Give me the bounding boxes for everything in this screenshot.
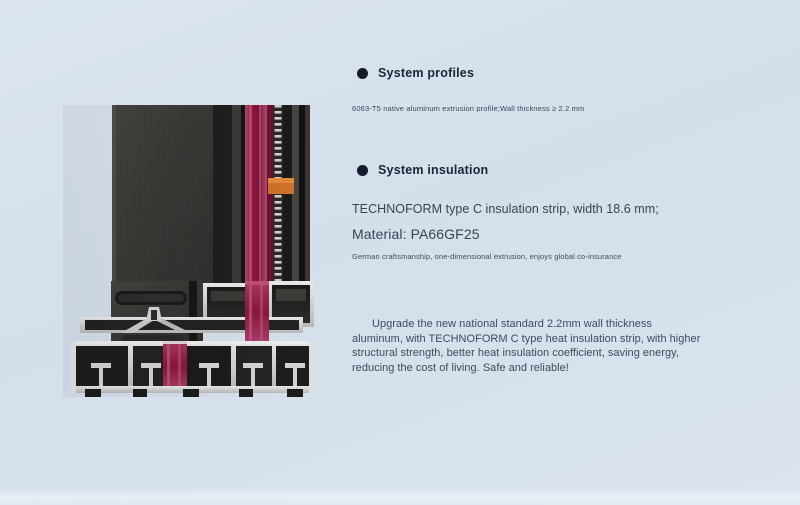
section-heading-system-insulation: System insulation [378,163,488,177]
insulation-origin-note: German craftsmanship, one-dimensional ex… [352,252,752,261]
section-system-profiles: System profiles [352,66,752,80]
insulation-material-spec: Material: PA66GF25 [352,226,752,242]
summary-paragraph: Upgrade the new national standard 2.2mm … [352,317,704,375]
system-profiles-note: 6063-T5 native aluminum extrusion profil… [352,104,752,113]
filled-circle-bullet-icon [357,165,368,176]
aluminum-profile-cross-section-image [63,105,315,397]
section-system-insulation: System insulation [352,163,752,177]
insulation-strip-spec: TECHNOFORM type C insulation strip, widt… [352,202,752,216]
bottom-edge-band [0,487,800,505]
content-column: System profiles 6063-T5 native aluminum … [352,66,752,375]
slide-canvas: System profiles 6063-T5 native aluminum … [0,0,800,505]
section-heading-system-profiles: System profiles [378,66,474,80]
filled-circle-bullet-icon [357,68,368,79]
product-photo [63,105,315,397]
